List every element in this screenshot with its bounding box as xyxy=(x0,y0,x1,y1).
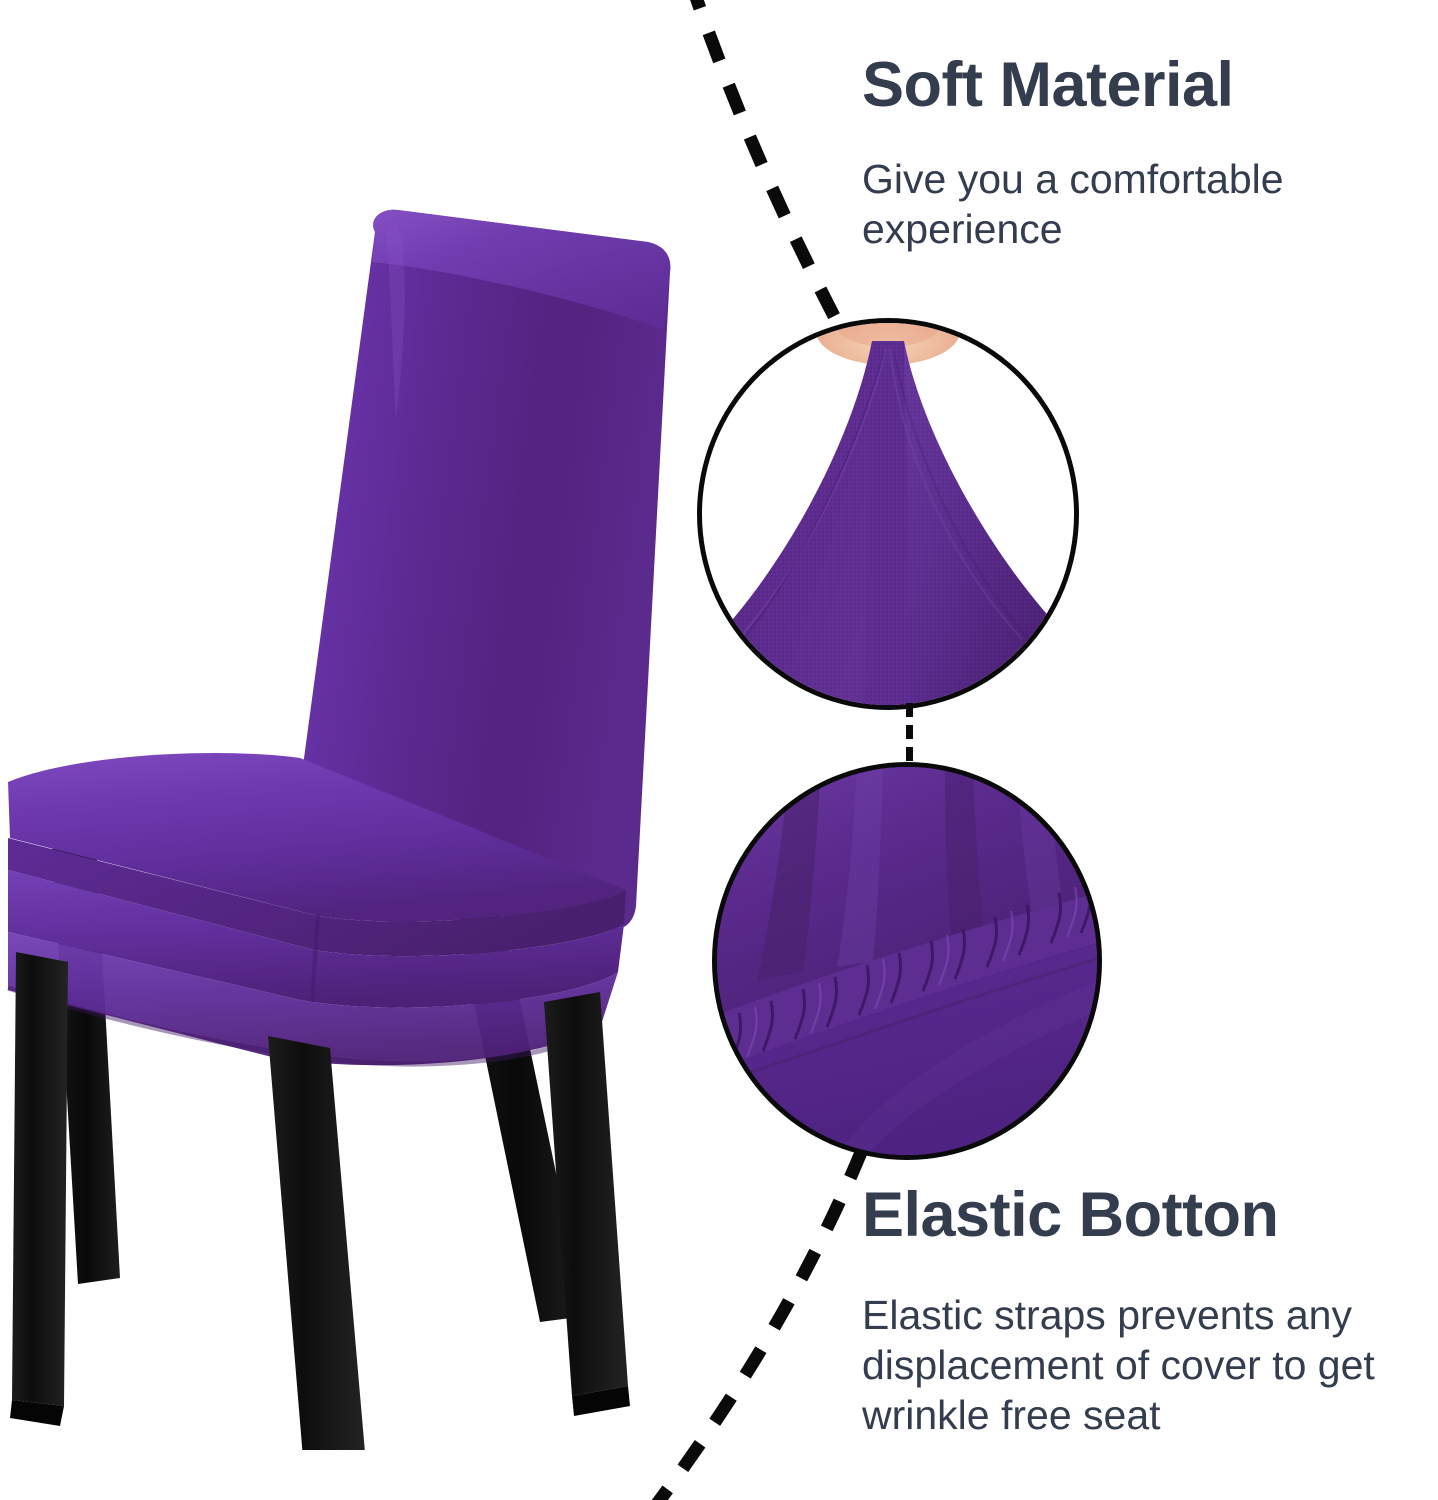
fabric-pinch-stretch-closeup-icon xyxy=(702,323,1074,705)
elastic-gathered-hem-closeup-icon xyxy=(717,767,1097,1155)
callout-fabric-stretch-closeup xyxy=(697,318,1079,710)
dining-chair-with-purple-slipcover-icon xyxy=(0,190,700,1450)
dashed-vertical-connector xyxy=(906,703,913,761)
feature-description-soft-material: Give you a comfortable experience xyxy=(862,154,1422,254)
feature-block-elastic-botton: Elastic Botton Elastic straps prevents a… xyxy=(862,1182,1432,1440)
feature-description-elastic-botton: Elastic straps prevents any displacement… xyxy=(862,1290,1432,1440)
product-feature-infographic: Soft Material Give you a comfortable exp… xyxy=(0,0,1438,1500)
feature-block-soft-material: Soft Material Give you a comfortable exp… xyxy=(862,52,1422,254)
feature-title-elastic-botton: Elastic Botton xyxy=(862,1182,1432,1248)
product-photo-chair-slipcover xyxy=(0,190,700,1450)
feature-title-soft-material: Soft Material xyxy=(862,52,1422,118)
callout-elastic-hem-closeup xyxy=(712,762,1102,1160)
